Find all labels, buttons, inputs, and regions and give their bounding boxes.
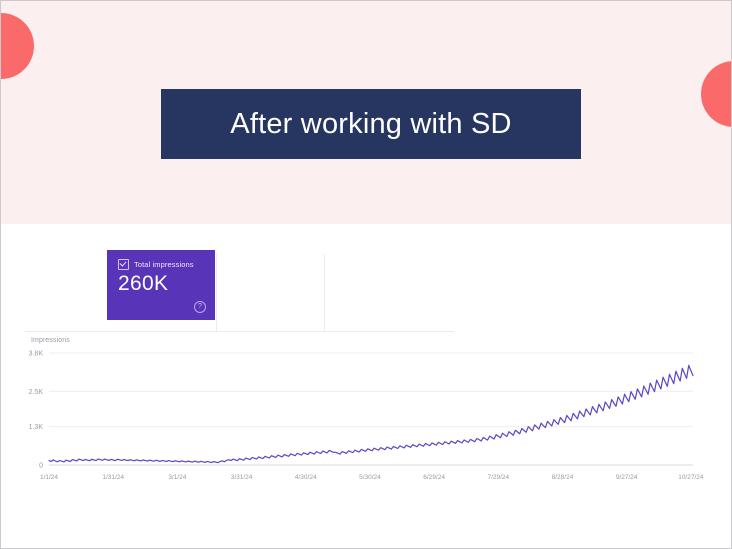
metric-card-slot-2[interactable] (217, 254, 325, 331)
chart-svg: 3.8K2.5K1.3K0 1/1/241/31/243/1/243/31/24… (1, 347, 732, 487)
hero-banner: After working with SD (1, 1, 732, 224)
svg-text:4/30/24: 4/30/24 (295, 474, 317, 481)
impressions-chart: Impressions 3.8K2.5K1.3K0 1/1/241/31/243… (1, 339, 732, 494)
analytics-panel: Total impressions 260K ? Impressions 3.8… (1, 224, 732, 549)
svg-text:1/31/24: 1/31/24 (102, 474, 124, 481)
metric-card-value: 260K (118, 272, 215, 296)
slide-canvas: After working with SD Total impressions … (0, 0, 732, 549)
chart-y-ticks: 3.8K2.5K1.3K0 (29, 351, 44, 470)
svg-text:8/28/24: 8/28/24 (552, 474, 574, 481)
svg-text:1/1/24: 1/1/24 (40, 474, 58, 481)
metric-card-slot-3[interactable] (325, 254, 433, 331)
metric-card-total-impressions[interactable]: Total impressions 260K ? (107, 250, 215, 320)
checkbox-checked-icon[interactable] (118, 259, 129, 270)
svg-text:7/29/24: 7/29/24 (487, 474, 509, 481)
metric-card-label: Total impressions (134, 260, 194, 269)
svg-text:9/27/24: 9/27/24 (616, 474, 638, 481)
chart-series-line (49, 365, 693, 462)
decorative-circle-right (701, 61, 732, 127)
metric-cards-row (25, 254, 454, 332)
svg-text:1.3K: 1.3K (29, 424, 44, 431)
svg-text:0: 0 (39, 463, 43, 470)
title-band: After working with SD (161, 89, 581, 159)
metric-card-slot-left (25, 254, 109, 331)
decorative-circle-left (1, 13, 34, 79)
svg-text:10/27/24: 10/27/24 (678, 474, 704, 481)
svg-text:3/1/24: 3/1/24 (168, 474, 186, 481)
metric-card-header: Total impressions (118, 259, 215, 270)
help-circle-icon[interactable]: ? (194, 301, 206, 313)
page-title: After working with SD (230, 108, 511, 141)
svg-text:6/29/24: 6/29/24 (423, 474, 445, 481)
chart-x-ticks: 1/1/241/31/243/1/243/31/244/30/245/30/24… (40, 474, 704, 481)
svg-text:3/31/24: 3/31/24 (231, 474, 253, 481)
svg-text:3.8K: 3.8K (29, 351, 44, 358)
chart-gridlines (49, 353, 693, 465)
svg-text:2.5K: 2.5K (29, 389, 44, 396)
svg-text:5/30/24: 5/30/24 (359, 474, 381, 481)
chart-y-axis-title: Impressions (31, 337, 70, 344)
